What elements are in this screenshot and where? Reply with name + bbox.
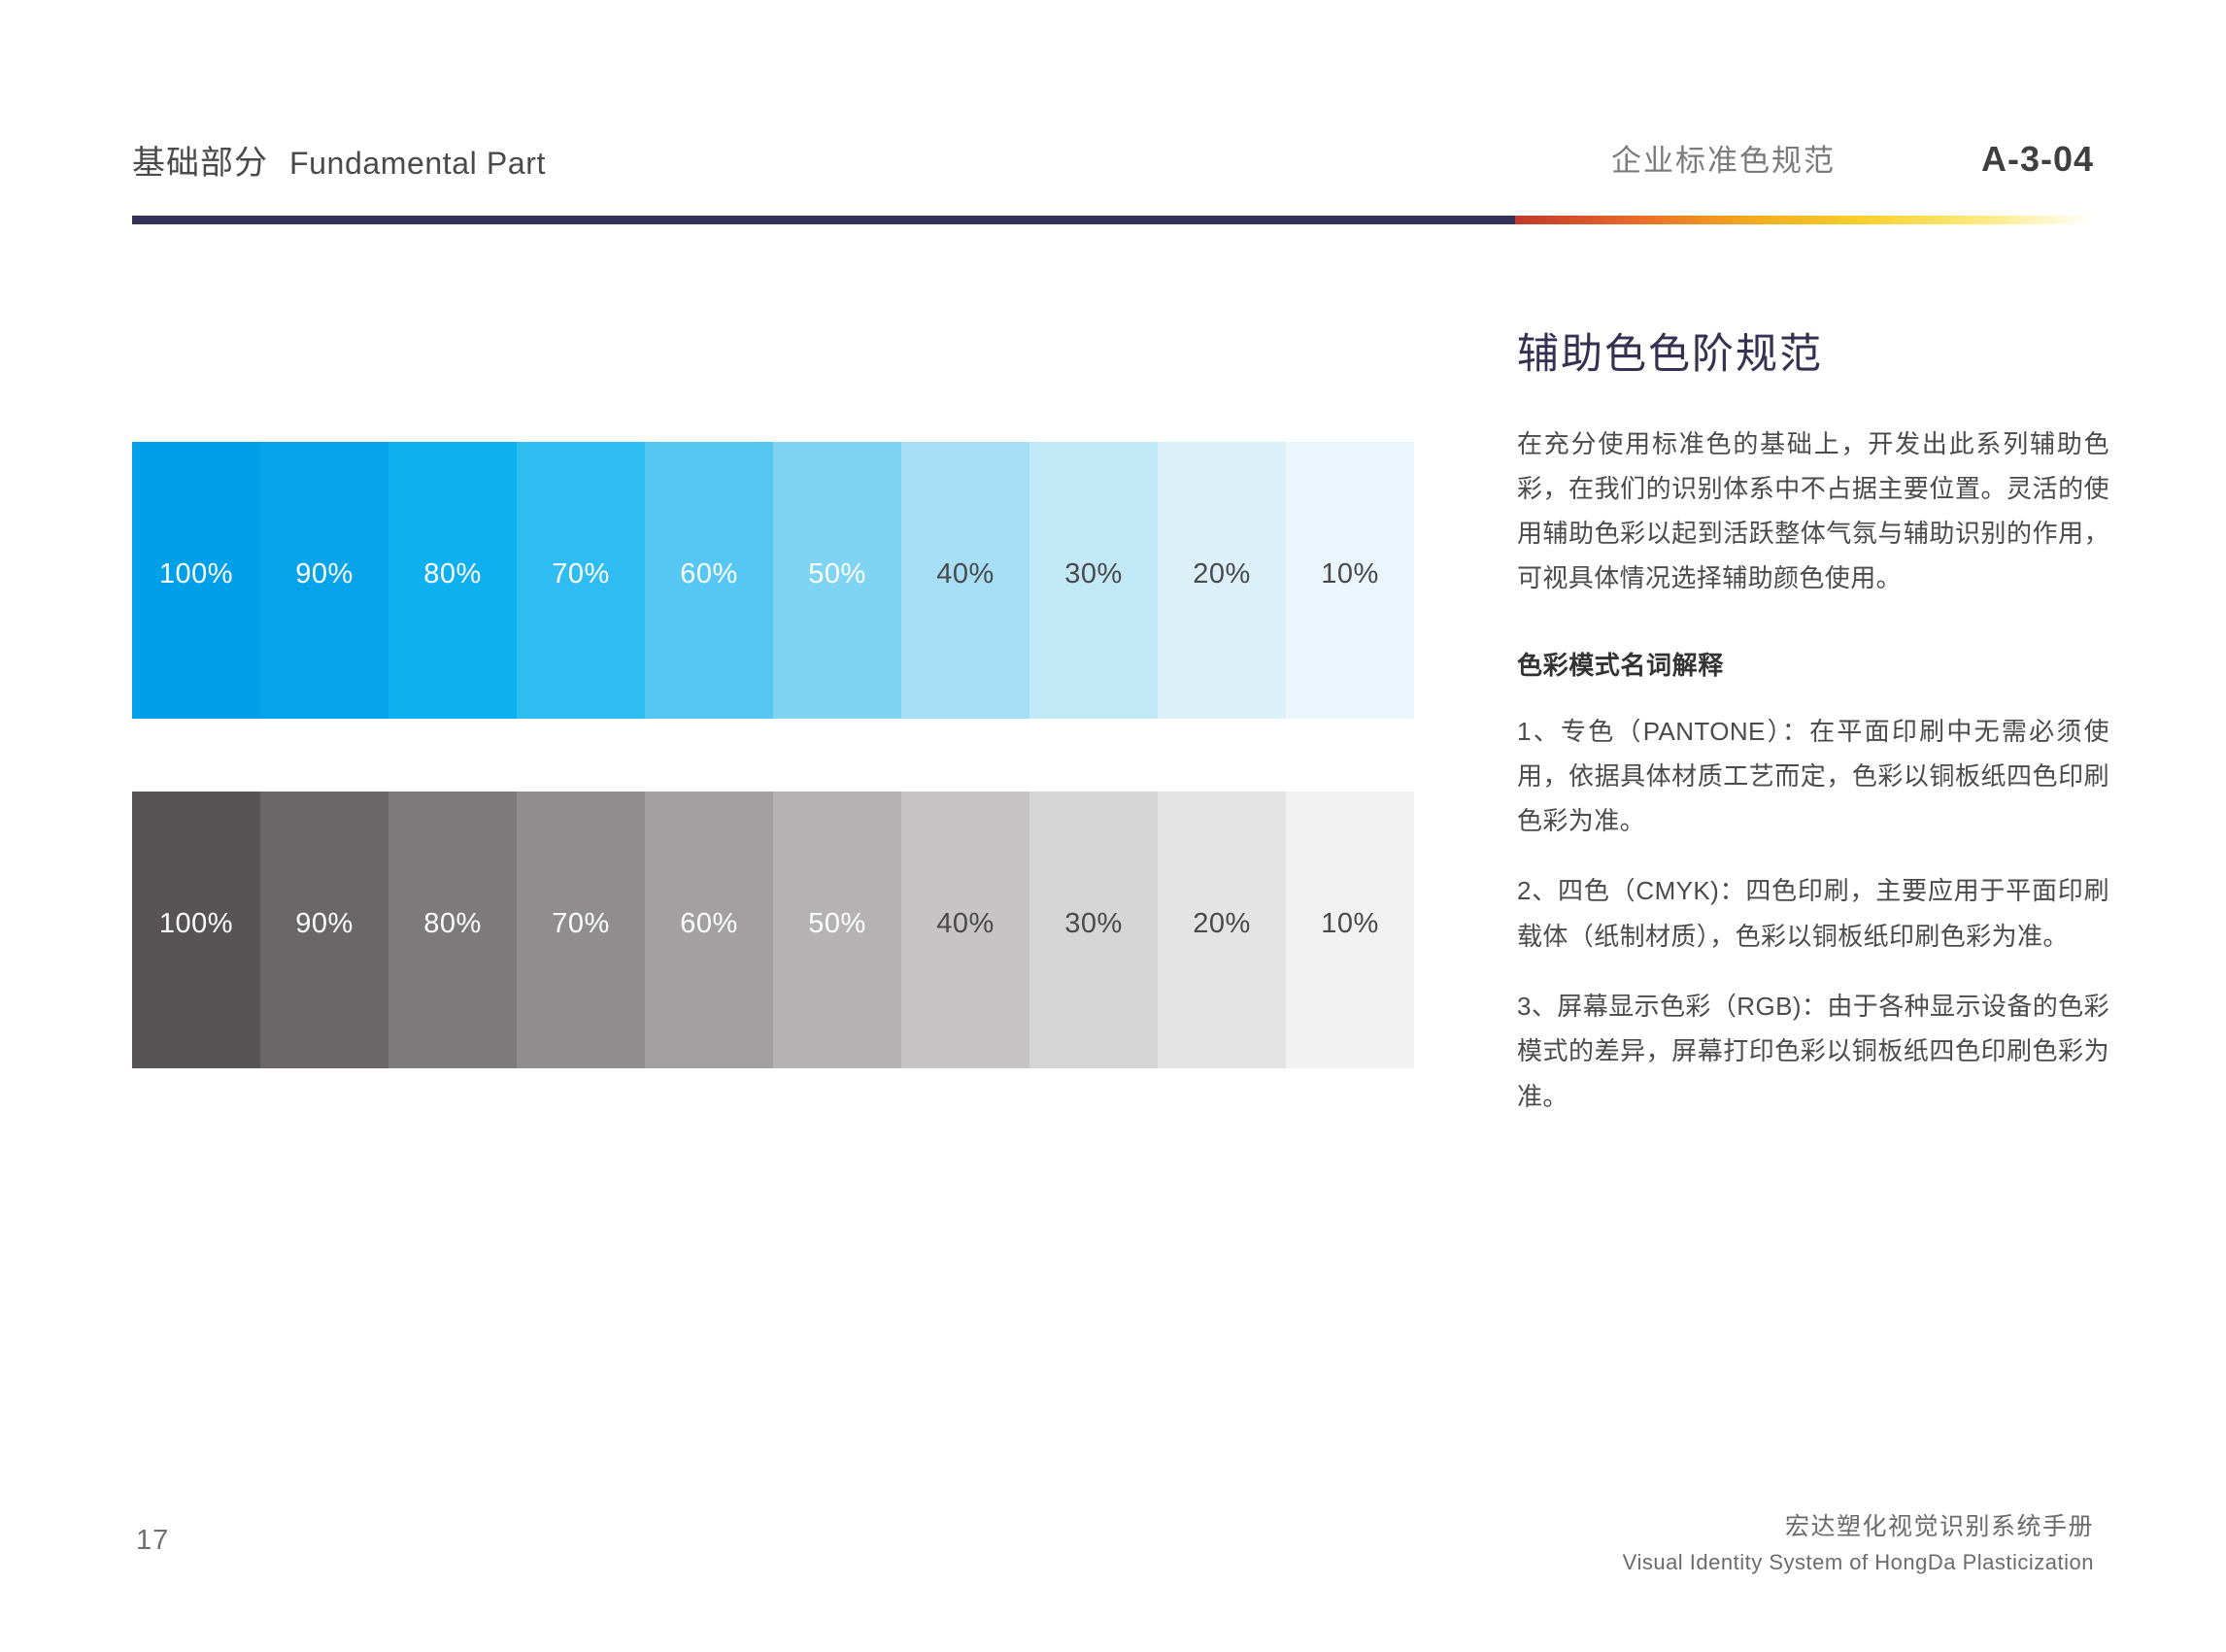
swatch-percentage-label: 70% [552,908,610,940]
color-mode-definition-item: 2、四色（CMYK)：四色印刷，主要应用于平面印刷载体（纸制材质），色彩以铜板纸… [1517,868,2109,959]
swatch-percentage-label: 30% [1064,558,1123,590]
swatch-percentage-label: 50% [808,558,866,590]
page-header: 基础部分 Fundamental Part 企业标准色规范 A-3-04 [132,136,2094,214]
page-number: 17 [136,1525,169,1557]
color-swatch[interactable]: 80% [388,442,517,719]
header-rule [132,216,2094,224]
color-mode-definition-item: 1、专色（PANTONE）：在平面印刷中无需必须使用，依据具体材质工艺而定，色彩… [1517,709,2109,844]
side-text-column: 辅助色色阶规范 在充分使用标准色的基础上，开发出此系列辅助色彩，在我们的识别体系… [1517,330,2109,1119]
guideline-page: 基础部分 Fundamental Part 企业标准色规范 A-3-04 100… [0,0,2226,1652]
swatch-percentage-label: 40% [936,908,995,940]
footer-brand-cn: 宏达塑化视觉识别系统手册 [1623,1507,2094,1542]
color-mode-definition-item: 3、屏幕显示色彩（RGB)：由于各种显示设备的色彩模式的差异，屏幕打印色彩以铜板… [1517,984,2109,1119]
swatch-percentage-label: 20% [1193,908,1251,940]
header-rule-navy-segment [132,216,1515,224]
color-swatch[interactable]: 20% [1158,442,1286,719]
color-swatch[interactable]: 90% [260,442,388,719]
color-swatch[interactable]: 10% [1286,792,1414,1068]
swatch-percentage-label: 60% [680,908,738,940]
color-swatch[interactable]: 30% [1029,792,1158,1068]
color-swatch[interactable]: 10% [1286,442,1414,719]
header-section-name: 企业标准色规范 [1611,136,1836,180]
color-mode-definition-list: 1、专色（PANTONE）：在平面印刷中无需必须使用，依据具体材质工艺而定，色彩… [1517,709,2109,1119]
swatch-percentage-label: 90% [295,558,354,590]
color-swatch[interactable]: 60% [645,792,773,1068]
header-meta-group: 企业标准色规范 A-3-04 [1611,136,2094,180]
swatch-percentage-label: 100% [159,558,233,590]
header-title-group: 基础部分 Fundamental Part [132,136,546,184]
color-swatch[interactable]: 70% [517,792,645,1068]
color-swatch[interactable]: 80% [388,792,517,1068]
gray-tint-scale-row: 100%90%80%70%60%50%40%30%20%10% [132,792,1414,1068]
header-page-code: A-3-04 [1981,139,2094,180]
swatch-percentage-label: 40% [936,558,995,590]
footer-brand-en: Visual Identity System of HongDa Plastic… [1623,1550,2094,1575]
color-swatch[interactable]: 90% [260,792,388,1068]
color-swatch[interactable]: 100% [132,792,260,1068]
side-intro-paragraph: 在充分使用标准色的基础上，开发出此系列辅助色彩，在我们的识别体系中不占据主要位置… [1517,421,2109,601]
swatch-percentage-label: 30% [1064,908,1123,940]
swatch-percentage-label: 20% [1193,558,1251,590]
header-title-en: Fundamental Part [289,146,546,182]
swatch-percentage-label: 10% [1321,908,1379,940]
swatch-percentage-label: 100% [159,908,233,940]
blue-tint-scale-row: 100%90%80%70%60%50%40%30%20%10% [132,442,1414,719]
color-swatch[interactable]: 40% [901,792,1029,1068]
swatch-percentage-label: 80% [423,908,482,940]
color-swatch[interactable]: 20% [1158,792,1286,1068]
swatch-percentage-label: 70% [552,558,610,590]
color-swatch[interactable]: 70% [517,442,645,719]
color-swatch[interactable]: 50% [773,792,901,1068]
swatch-percentage-label: 50% [808,908,866,940]
swatch-percentage-label: 10% [1321,558,1379,590]
swatch-percentage-label: 80% [423,558,482,590]
side-subheading: 色彩模式名词解释 [1517,646,2109,682]
color-swatch[interactable]: 50% [773,442,901,719]
color-swatch[interactable]: 40% [901,442,1029,719]
header-title-cn: 基础部分 [132,136,268,184]
swatch-percentage-label: 90% [295,908,354,940]
color-swatch[interactable]: 60% [645,442,773,719]
swatch-percentage-label: 60% [680,558,738,590]
color-swatch[interactable]: 100% [132,442,260,719]
color-swatch[interactable]: 30% [1029,442,1158,719]
side-heading: 辅助色色阶规范 [1517,330,2109,381]
footer-brand: 宏达塑化视觉识别系统手册 Visual Identity System of H… [1623,1507,2094,1575]
header-rule-gradient-segment [1515,216,2094,224]
